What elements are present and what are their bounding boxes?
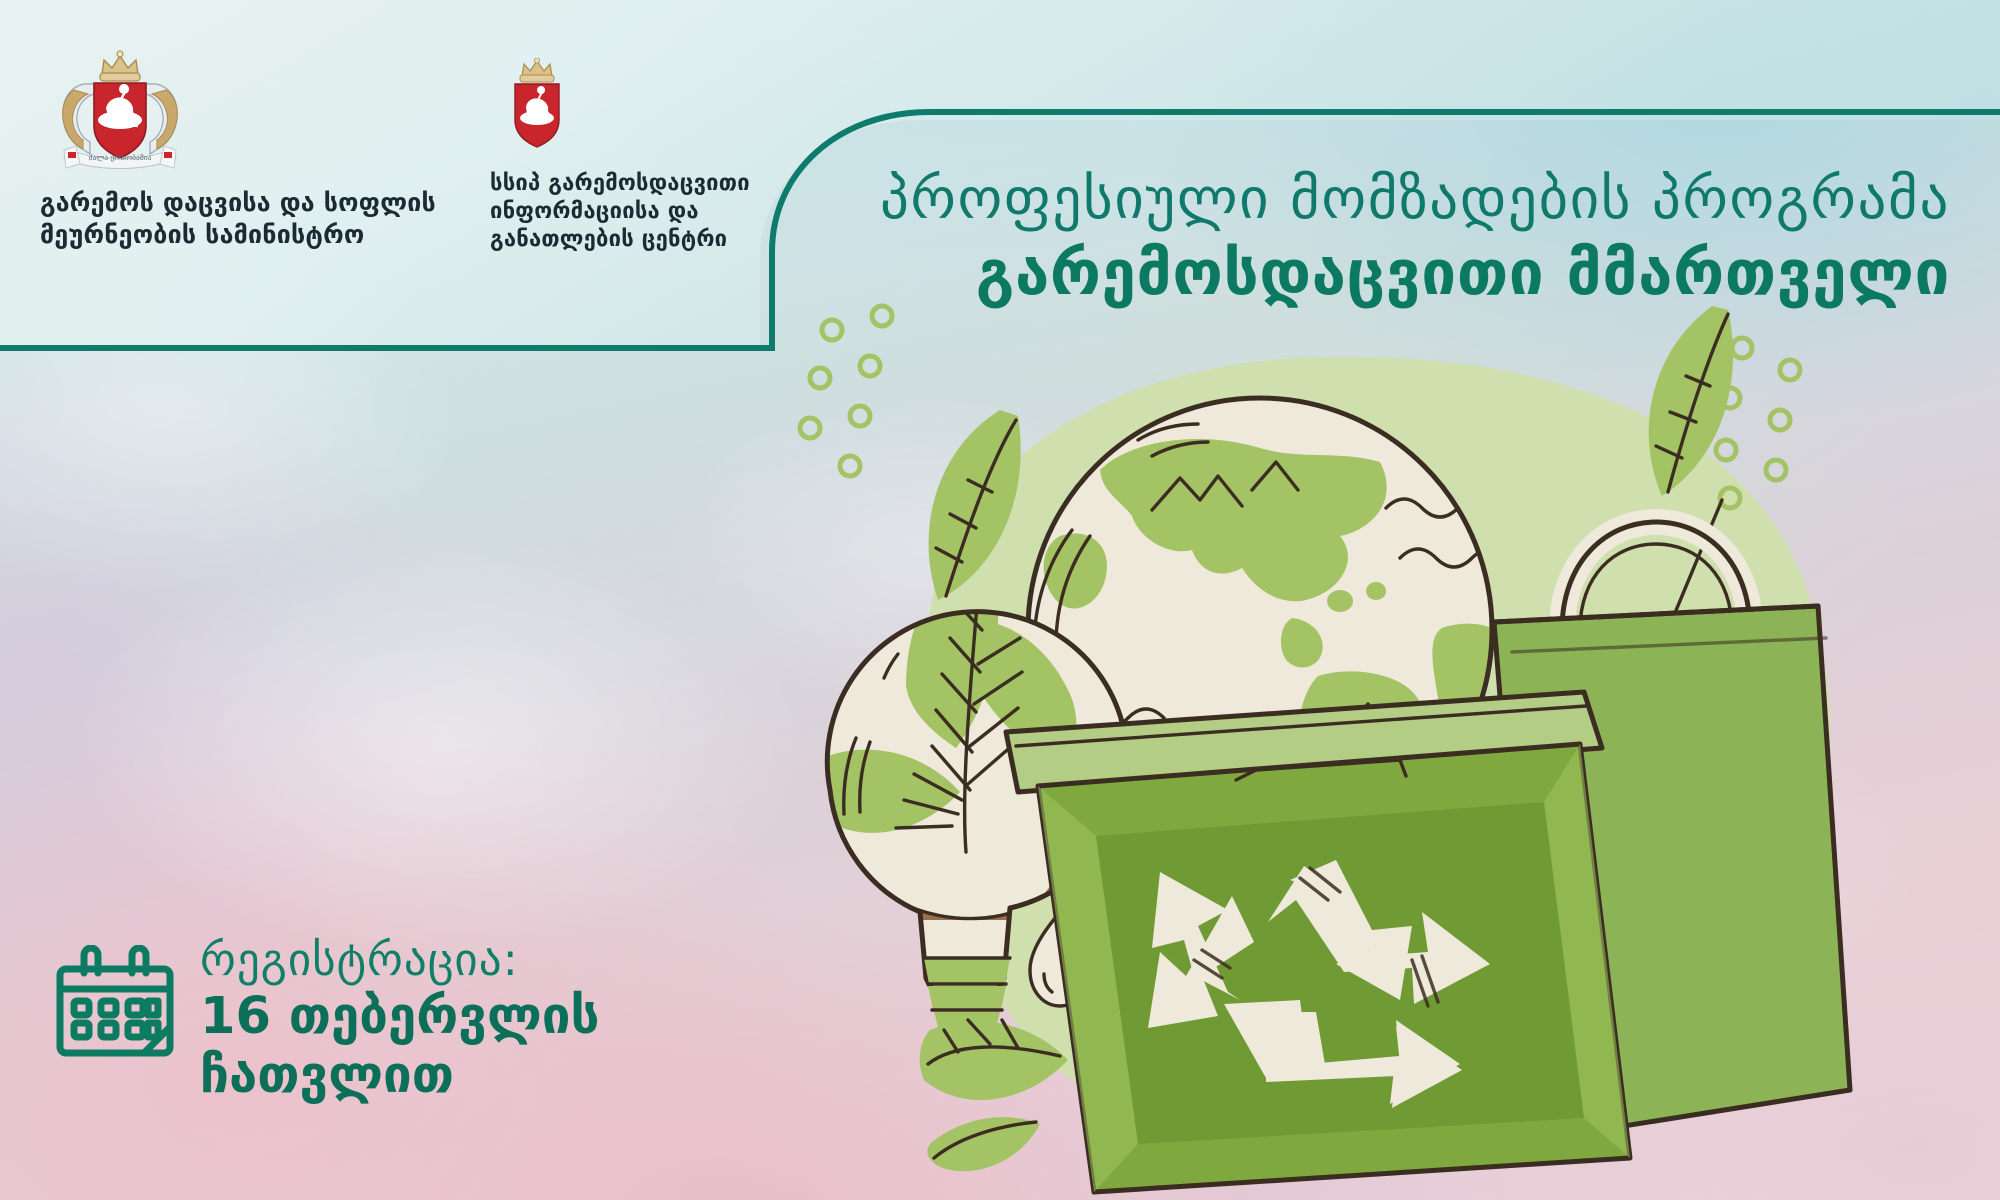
calendar-icon xyxy=(56,945,174,1063)
registration-label: რეგისტრაცია: xyxy=(200,935,600,985)
georgia-small-coat-of-arms-icon xyxy=(490,58,820,158)
ministry-logo-line-2: მეურნეობის სამინისტრო xyxy=(40,219,470,251)
georgia-coat-of-arms-icon: ძალა ერთობაშია xyxy=(40,50,370,175)
bin-leaf-decor xyxy=(920,1020,1068,1171)
dot-cluster-left xyxy=(800,306,892,476)
ministry-logo-text: გარემოს დაცვისა და სოფლის მეურნეობის სამ… xyxy=(40,187,470,251)
registration-text: რეგისტრაცია: 16 თებერვლის ჩათვლით xyxy=(200,935,600,1105)
page-title: გარემოსდაცვითი მმართველი xyxy=(530,236,1950,309)
svg-text:ძალა ერთობაშია: ძალა ერთობაშია xyxy=(89,153,152,162)
ministry-logo-line-1: გარემოს დაცვისა და სოფლის xyxy=(40,187,470,219)
program-kicker: პროფესიული მომზადების პროგრამა xyxy=(530,170,1950,230)
title-block: პროფესიული მომზადების პროგრამა გარემოსდა… xyxy=(530,170,1950,309)
eco-illustration: .ol { fill:none; stroke:#3b2d21; stroke-… xyxy=(700,300,2000,1200)
ministry-logo: ძალა ერთობაშია გარემოს დაცვისა და სოფლის… xyxy=(40,50,370,251)
poster-canvas: ძალა ერთობაშია გარემოს დაცვისა და სოფლის… xyxy=(0,0,2000,1200)
registration-block: რეგისტრაცია: 16 თებერვლის ჩათვლით xyxy=(56,935,600,1105)
registration-deadline: 16 თებერვლის ჩათვლით xyxy=(200,987,600,1105)
